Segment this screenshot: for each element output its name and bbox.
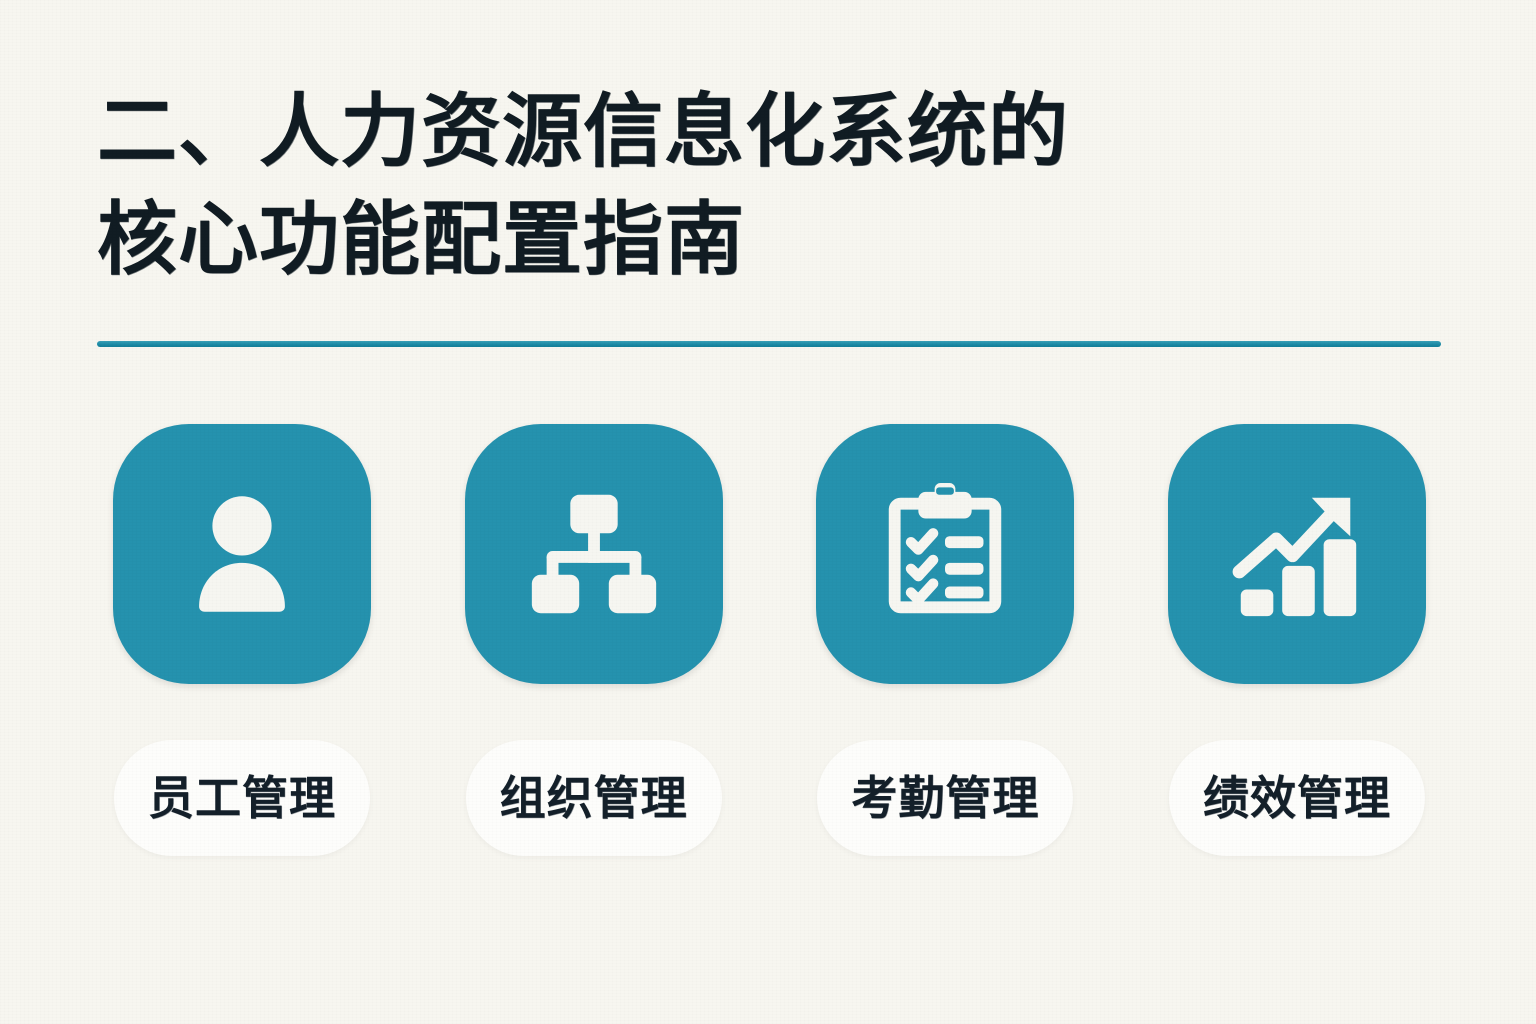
icon-tile-employee[interactable] bbox=[113, 424, 371, 684]
clipboard-checklist-icon bbox=[871, 480, 1019, 628]
person-icon bbox=[168, 480, 316, 628]
title-line-2: 核心功能配置指南 bbox=[97, 186, 1457, 294]
icon-tile-organization[interactable] bbox=[465, 424, 723, 684]
feature-label-text: 员工管理 bbox=[148, 775, 336, 821]
feature-card-organization[interactable]: 组织管理 bbox=[449, 424, 739, 856]
icon-tile-attendance[interactable] bbox=[816, 424, 1074, 684]
feature-label-text: 组织管理 bbox=[500, 775, 688, 821]
feature-card-employee[interactable]: 员工管理 bbox=[97, 424, 387, 856]
org-chart-icon bbox=[520, 480, 668, 628]
page-title: 二、人力资源信息化系统的 核心功能配置指南 bbox=[97, 78, 1457, 294]
feature-card-attendance[interactable]: 考勤管理 bbox=[800, 424, 1090, 856]
feature-label-text: 考勤管理 bbox=[851, 775, 1039, 821]
feature-label-pill-performance[interactable]: 绩效管理 bbox=[1169, 740, 1425, 856]
feature-label-pill-organization[interactable]: 组织管理 bbox=[466, 740, 722, 856]
title-line-1: 二、人力资源信息化系统的 bbox=[97, 78, 1457, 186]
icon-tile-performance[interactable] bbox=[1168, 424, 1426, 684]
feature-label-pill-employee[interactable]: 员工管理 bbox=[114, 740, 370, 856]
feature-label-pill-attendance[interactable]: 考勤管理 bbox=[817, 740, 1073, 856]
growth-chart-icon bbox=[1223, 480, 1371, 628]
slide-root: 二、人力资源信息化系统的 核心功能配置指南 员工管理 bbox=[0, 0, 1536, 1024]
feature-card-row: 员工管理 bbox=[97, 424, 1442, 856]
feature-card-performance[interactable]: 绩效管理 bbox=[1152, 424, 1442, 856]
feature-label-text: 绩效管理 bbox=[1203, 775, 1391, 821]
title-divider bbox=[97, 341, 1441, 347]
